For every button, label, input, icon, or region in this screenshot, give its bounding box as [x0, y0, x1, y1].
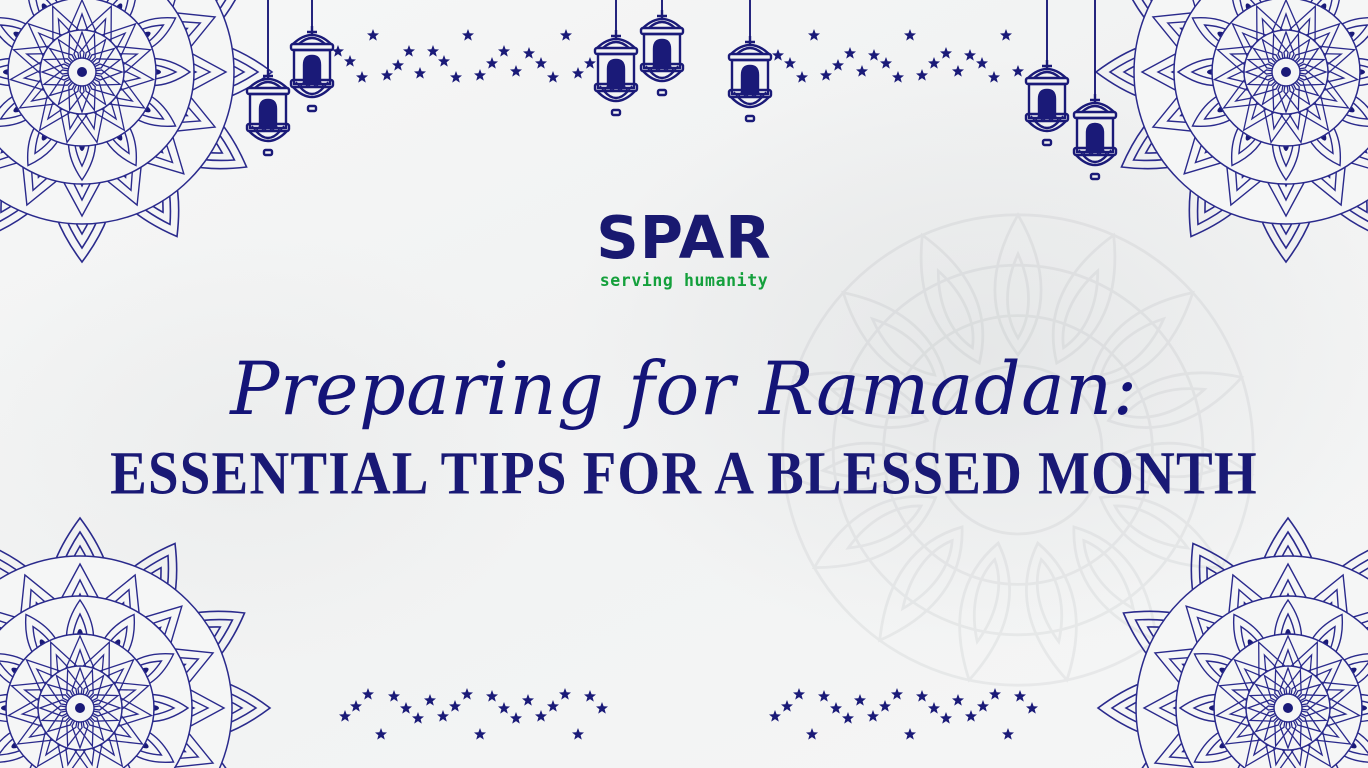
star-icon — [940, 712, 952, 724]
logo-wordmark: SPAR — [596, 208, 771, 267]
star-icon — [854, 694, 866, 706]
star-icon — [892, 71, 904, 83]
star-icon — [808, 29, 820, 41]
star-icon — [868, 49, 880, 61]
star-icon — [830, 702, 842, 714]
star-icon — [559, 688, 571, 700]
star-icon — [498, 702, 510, 714]
star-icon — [474, 728, 486, 740]
star-icon — [523, 47, 535, 59]
star-icon — [362, 688, 374, 700]
star-icon — [856, 65, 868, 77]
star-icon — [535, 710, 547, 722]
star-icon — [461, 688, 473, 700]
star-icon — [392, 59, 404, 71]
mandala-bottom-right — [1088, 508, 1368, 768]
star-icon — [772, 49, 784, 61]
star-icon — [572, 67, 584, 79]
star-icon — [988, 71, 1000, 83]
star-icon — [879, 700, 891, 712]
star-icon — [1026, 702, 1038, 714]
star-icon — [388, 690, 400, 702]
star-icon — [820, 69, 832, 81]
star-icon — [891, 688, 903, 700]
star-icon — [350, 700, 362, 712]
star-icon — [400, 702, 412, 714]
ramadan-poster: SPAR serving humanity Preparing for Rama… — [0, 0, 1368, 768]
star-icon — [1014, 690, 1026, 702]
star-icon — [486, 690, 498, 702]
star-icon — [1002, 728, 1014, 740]
star-icon — [880, 57, 892, 69]
star-icon — [952, 694, 964, 706]
star-icon — [510, 65, 522, 77]
star-icon — [965, 710, 977, 722]
star-icon — [940, 47, 952, 59]
star-icon — [498, 45, 510, 57]
star-icon — [375, 728, 387, 740]
star-icon — [928, 702, 940, 714]
star-icon — [904, 728, 916, 740]
star-icon — [522, 694, 534, 706]
star-icon — [916, 69, 928, 81]
star-icon — [781, 700, 793, 712]
hanging-lanterns-and-stars-top — [0, 0, 1368, 200]
star-icon — [818, 690, 830, 702]
star-icon — [1000, 29, 1012, 41]
lantern-icon — [247, 0, 289, 155]
spar-logo: SPAR serving humanity — [0, 208, 1368, 290]
lantern-icon — [641, 0, 683, 95]
mandala-bottom-left — [0, 508, 280, 768]
star-icon — [486, 57, 498, 69]
star-icon — [916, 690, 928, 702]
star-icon — [427, 45, 439, 57]
star-icon — [547, 700, 559, 712]
star-icon — [332, 45, 344, 57]
lantern-icon — [1074, 0, 1116, 179]
star-icon — [424, 694, 436, 706]
star-icon — [769, 710, 781, 722]
star-icon — [381, 69, 393, 81]
star-icon — [438, 55, 450, 67]
lantern-icon — [1026, 0, 1068, 145]
star-icon — [356, 71, 368, 83]
star-icon — [904, 29, 916, 41]
star-icon — [339, 710, 351, 722]
rising-stars-bottom — [0, 663, 1368, 768]
star-icon — [462, 29, 474, 41]
star-icon — [964, 49, 976, 61]
star-icon — [832, 59, 844, 71]
star-icon — [437, 710, 449, 722]
star-icon — [806, 728, 818, 740]
star-icon — [928, 57, 940, 69]
lantern-icon — [291, 0, 333, 111]
star-icon — [584, 690, 596, 702]
star-icon — [547, 71, 559, 83]
star-icon — [535, 57, 547, 69]
star-icon — [976, 57, 988, 69]
star-icon — [449, 700, 461, 712]
star-icon — [796, 71, 808, 83]
title-script-line: Preparing for Ramadan: — [0, 352, 1368, 429]
star-icon — [510, 712, 522, 724]
star-icon — [474, 69, 486, 81]
star-icon — [450, 71, 462, 83]
star-icon — [412, 712, 424, 724]
lantern-icon — [729, 0, 771, 121]
star-icon — [977, 700, 989, 712]
star-icon — [596, 702, 608, 714]
star-icon — [867, 710, 879, 722]
lantern-icon — [595, 0, 637, 115]
star-icon — [560, 29, 572, 41]
star-icon — [344, 55, 356, 67]
star-icon — [952, 65, 964, 77]
star-icon — [844, 47, 856, 59]
star-icon — [793, 688, 805, 700]
star-icon — [989, 688, 1001, 700]
star-icon — [367, 29, 379, 41]
star-icon — [414, 67, 426, 79]
star-icon — [572, 728, 584, 740]
star-icon — [842, 712, 854, 724]
star-icon — [784, 57, 796, 69]
title-block: Preparing for Ramadan: ESSENTIAL TIPS FO… — [0, 352, 1368, 499]
logo-tagline: serving humanity — [600, 271, 769, 290]
star-icon — [1012, 65, 1024, 77]
star-icon — [584, 57, 596, 69]
star-icon — [403, 45, 415, 57]
title-main-line: ESSENTIAL TIPS FOR A BLESSED MONTH — [0, 441, 1368, 506]
